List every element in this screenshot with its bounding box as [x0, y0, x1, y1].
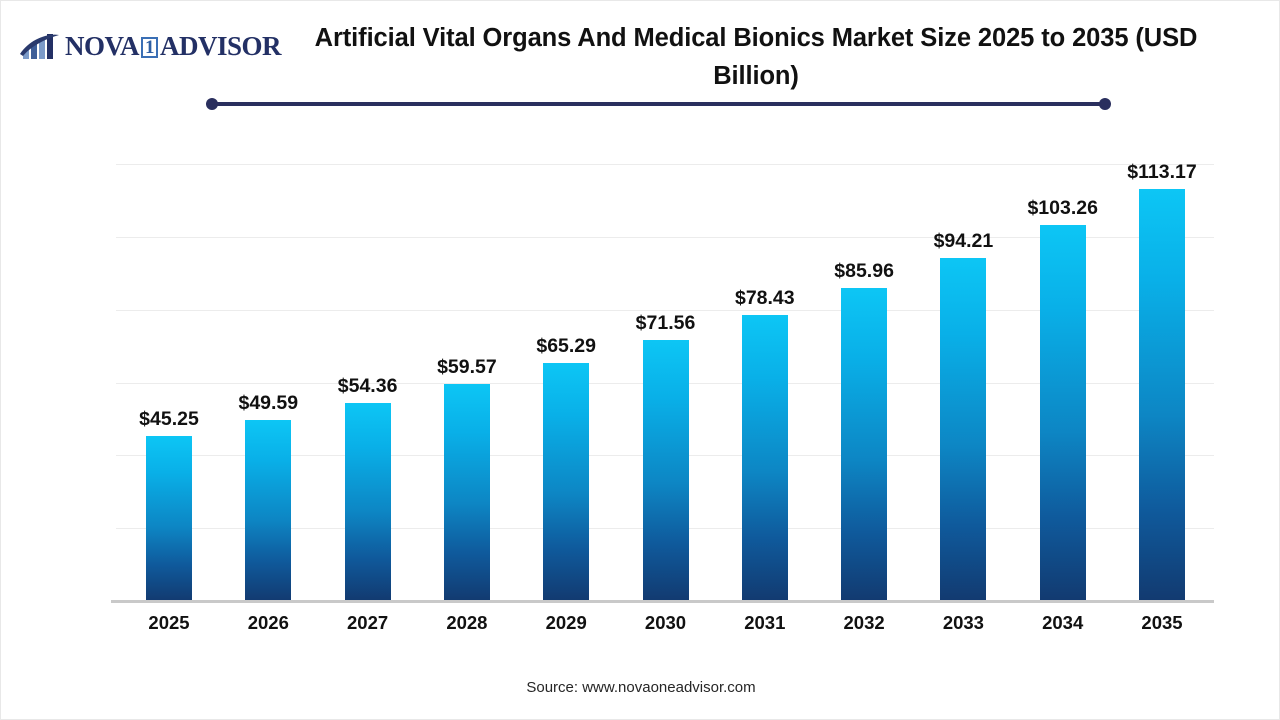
bar[interactable]	[146, 436, 192, 601]
chart-title: Artificial Vital Organs And Medical Bion…	[301, 19, 1211, 96]
bar-value-label: $103.26	[1003, 197, 1123, 220]
gridline	[116, 164, 1214, 165]
bar-value-label: $65.29	[506, 335, 626, 358]
brand-badge-one: 1	[141, 37, 158, 58]
bar[interactable]	[543, 363, 589, 601]
bar-value-label: $113.17	[1102, 161, 1222, 184]
bar-value-label: $59.57	[407, 356, 527, 379]
bar[interactable]	[245, 420, 291, 601]
bar[interactable]	[345, 403, 391, 601]
brand-name-part2: ADVISOR	[160, 31, 281, 62]
bar[interactable]	[841, 288, 887, 601]
bar[interactable]	[444, 384, 490, 601]
range-indicator-line	[212, 102, 1105, 106]
range-indicator-start-dot	[206, 98, 218, 110]
bar[interactable]	[1139, 189, 1185, 601]
source-caption: Source: www.novaoneadvisor.com	[1, 679, 1280, 696]
brand-name: NOVA1ADVISOR	[65, 31, 281, 62]
axis-baseline	[111, 600, 1214, 603]
bar[interactable]	[643, 340, 689, 601]
bar-chart-swoosh-icon	[19, 32, 61, 62]
x-axis-tick-label: 2035	[1102, 612, 1222, 634]
brand-logo[interactable]: NOVA1ADVISOR	[19, 31, 281, 62]
bar-value-label: $85.96	[804, 260, 924, 283]
bar-value-label: $78.43	[705, 287, 825, 310]
brand-name-part1: NOVA	[65, 31, 139, 62]
bar-value-label: $94.21	[903, 230, 1023, 253]
chart-page: NOVA1ADVISOR Artificial Vital Organs And…	[0, 0, 1280, 720]
range-indicator	[206, 96, 1111, 112]
bar[interactable]	[742, 315, 788, 601]
bar[interactable]	[1040, 225, 1086, 601]
bar[interactable]	[940, 258, 986, 601]
plot-area: 020406080100120 $45.25$49.59$54.36$59.57…	[116, 164, 1214, 601]
range-indicator-end-dot	[1099, 98, 1111, 110]
bar-value-label: $71.56	[606, 312, 726, 335]
